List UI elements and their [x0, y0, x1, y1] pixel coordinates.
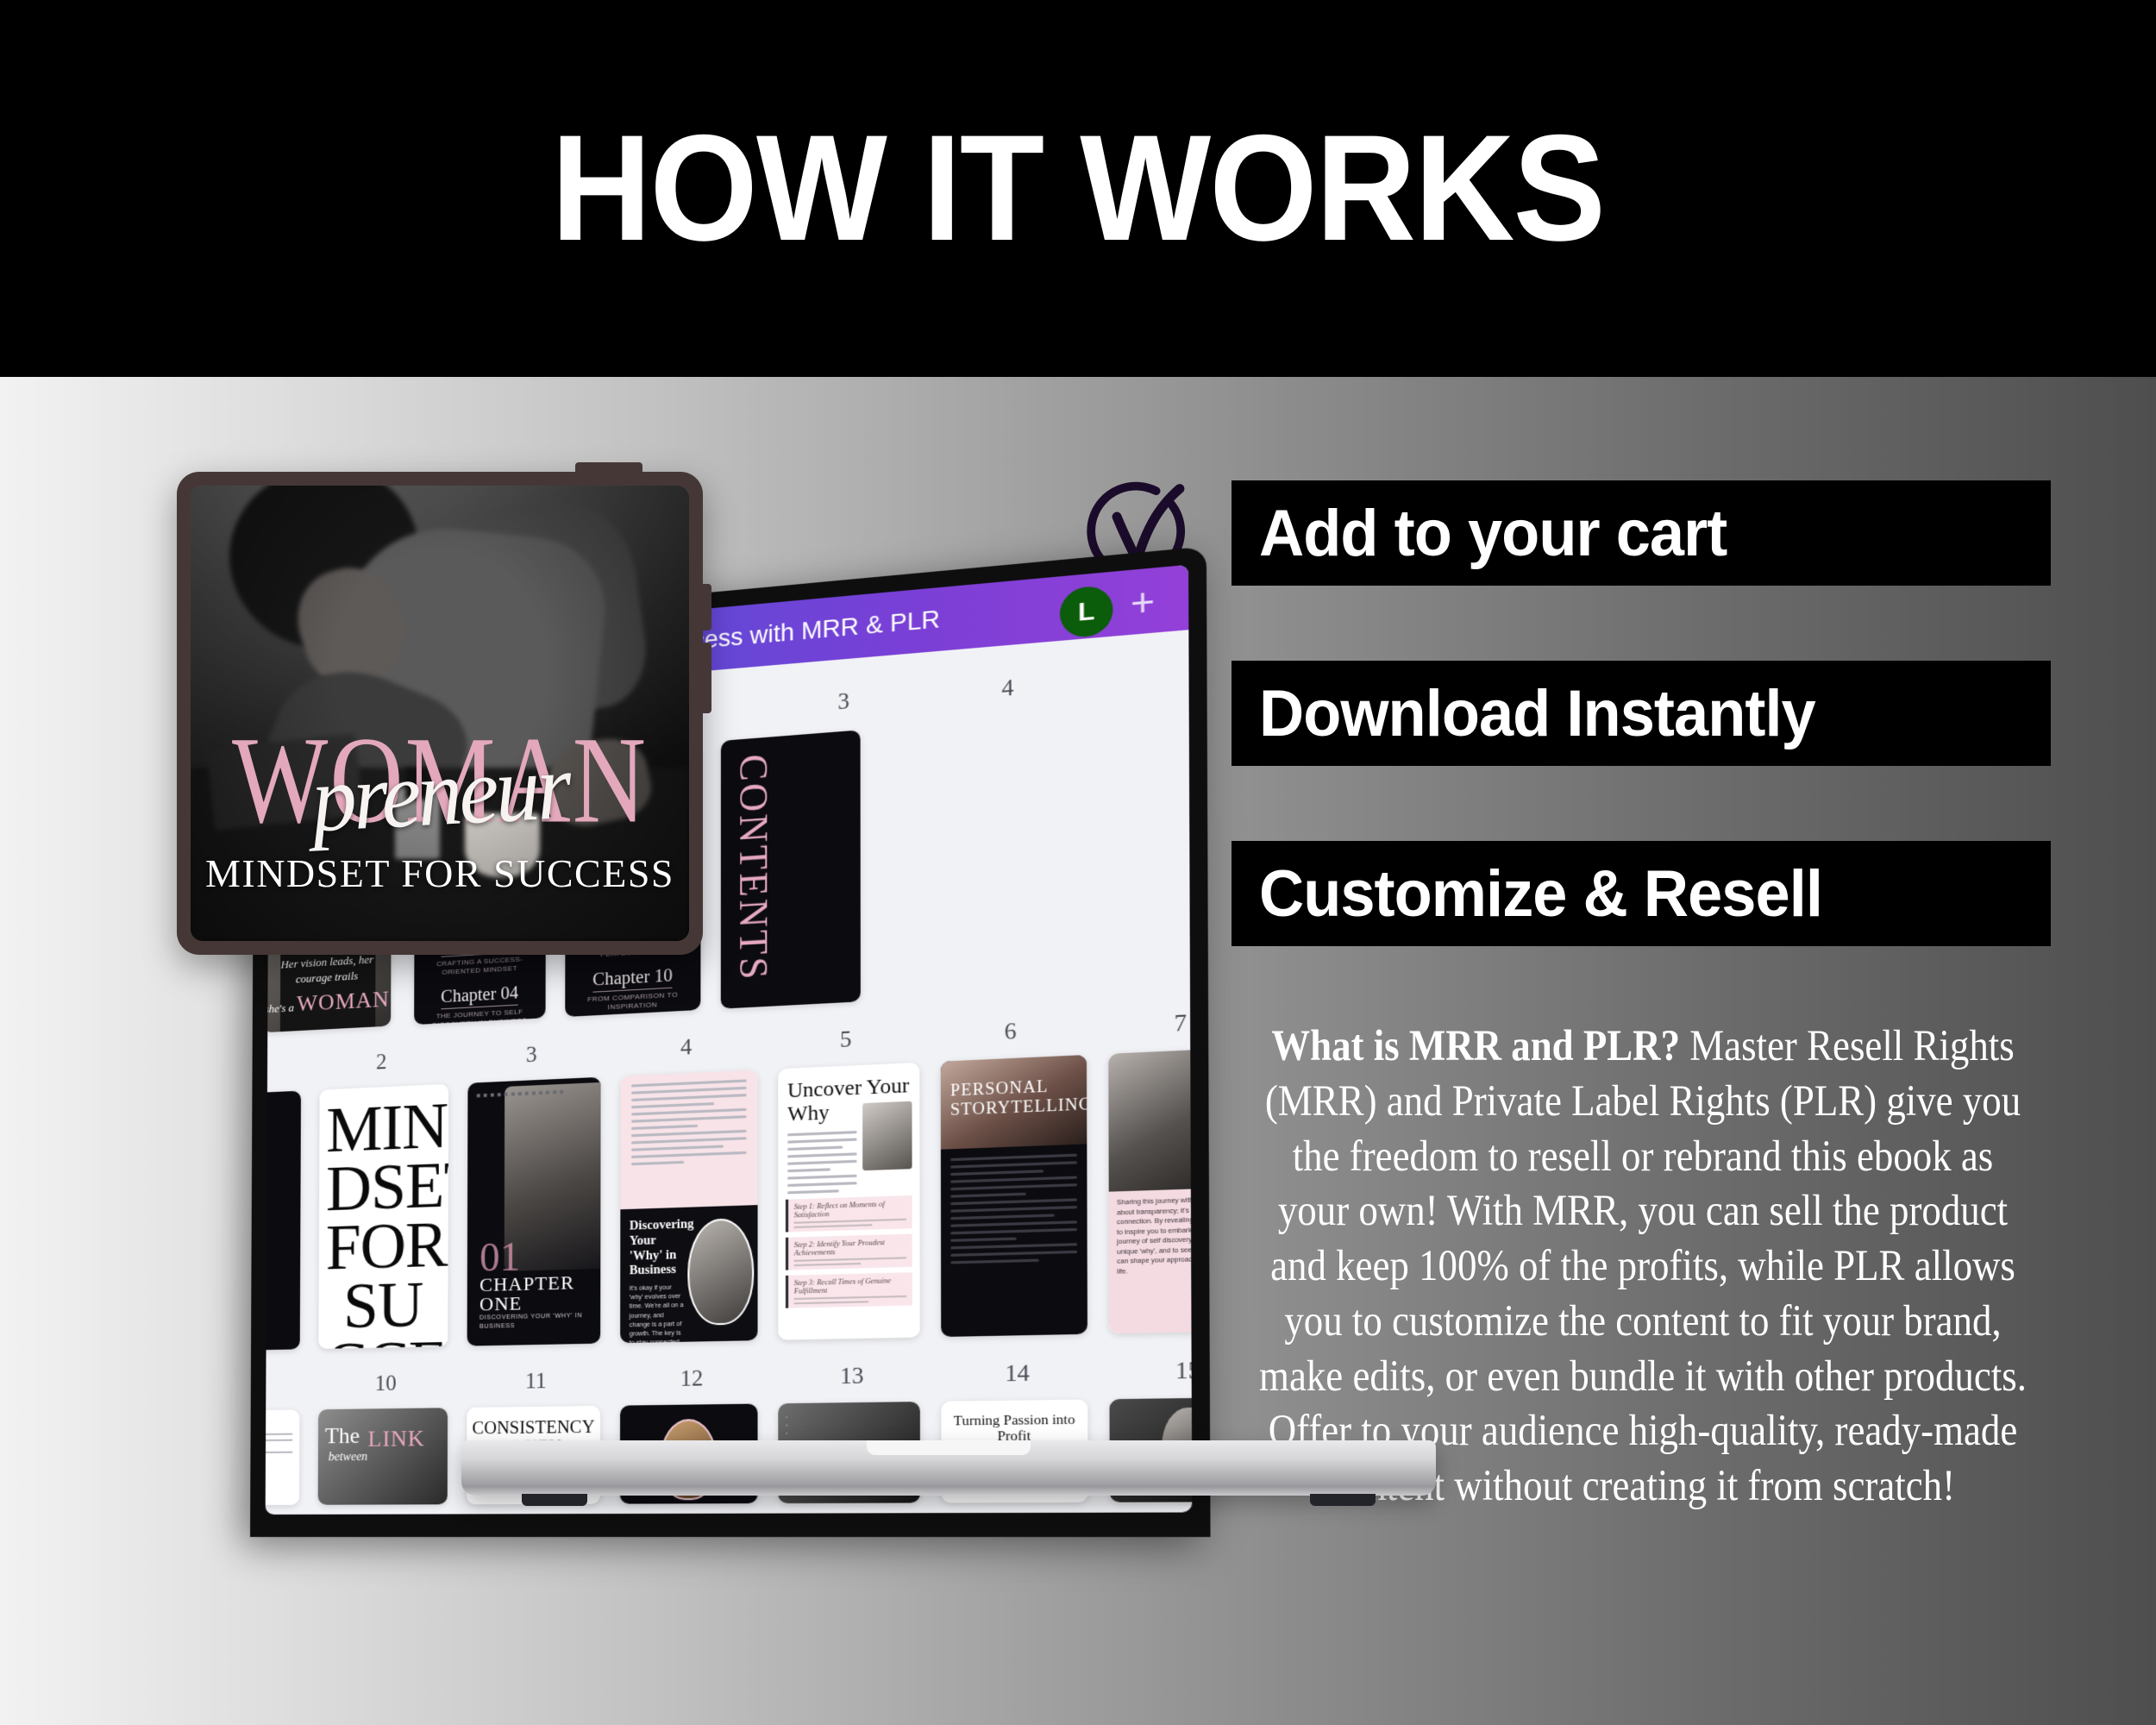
thumbnail-title: Turning Passion into Profit — [941, 1400, 1087, 1446]
steps-list: Add to your cart Download Instantly Cust… — [1087, 480, 2078, 1021]
step-pill[interactable]: Download Instantly — [1232, 661, 2051, 766]
page-number: 12 — [680, 1367, 704, 1393]
tablet-screen: WOMAN preneur MINDSET FOR SUCCESS — [191, 486, 689, 941]
step-row-customize-resell[interactable]: Customize & Resell — [1087, 841, 2078, 946]
list-item[interactable]: Uncover Your Why Step 1: Reflect on Mome… — [778, 1063, 919, 1340]
thumbnail-row-2: MIN DSET FOR SU CCESS ■■■■■■■■■■■■■ 01 C… — [266, 1000, 1193, 1350]
content-area: WOMAN preneur MINDSET FOR SUCCESS Womanp… — [0, 377, 2156, 1725]
page-number: 7 — [1174, 1011, 1187, 1038]
step-label: Add to your cart — [1259, 496, 1727, 571]
page-number: 4 — [680, 1035, 692, 1061]
thumbnail-word-3: between — [329, 1451, 368, 1465]
chapter-number: Chapter 04 — [441, 983, 518, 1009]
list-item[interactable] — [266, 1091, 301, 1352]
page-number: 5 — [840, 1027, 852, 1053]
step-row-add-to-cart[interactable]: Add to your cart — [1087, 480, 2078, 586]
step-label: Download Instantly — [1259, 676, 1815, 751]
thumbnail-title: Why' — [266, 1417, 293, 1431]
article-body: Sharing this journey with you is not jus… — [1117, 1195, 1192, 1277]
thumbnail-title: MIN DSET FOR SU CCESS — [318, 1084, 448, 1349]
list-item[interactable]: ■■■■■■■■■■■■■ 01 CHAPTER ONE DISCOVERING… — [467, 1077, 601, 1346]
list-item[interactable]: CONTENTS — [721, 730, 861, 1008]
tablet-volume-up-button[interactable] — [702, 584, 711, 630]
quote-text: Her vision leads, her courage trails she… — [266, 950, 392, 1022]
step-row-download-instantly[interactable]: Download Instantly — [1087, 661, 2078, 766]
tablet-power-button[interactable] — [575, 462, 642, 474]
chapter-subtitle: FROM COMPARISON TO INSPIRATION — [565, 989, 700, 1014]
list-item[interactable]: Sharing this journey with you is not jus… — [1108, 1047, 1192, 1333]
chapter-number: Chapter 10 — [592, 966, 673, 993]
step-pill[interactable]: Customize & Resell — [1232, 841, 2051, 946]
chapter-subtitle: CRAFTING A SUCCESS-ORIENTED MINDSET — [414, 954, 545, 979]
laptop-foot-left — [522, 1494, 587, 1506]
laptop-notch — [867, 1440, 1031, 1455]
cover-subtitle: MINDSET FOR SUCCESS — [191, 850, 689, 896]
page-number: 3 — [526, 1043, 537, 1068]
chapter-subtitle: THE JOURNEY TO SELF DISCOVERY IN BUSINES… — [414, 1007, 545, 1025]
list-item[interactable]: Why' — [266, 1409, 300, 1505]
step-label: Step 2: Identify Your Proudest Achieveme… — [794, 1238, 906, 1258]
list-item[interactable]: The LINK between — [318, 1408, 448, 1505]
step-label: Step 1: Reflect on Moments of Satisfacti… — [794, 1199, 906, 1219]
step-label: Step 3: Recall Times of Genuine Fulfillm… — [794, 1276, 906, 1295]
thumbnail-title: PERSONAL STORYTELLING — [950, 1075, 1087, 1119]
page-number: 11 — [525, 1370, 547, 1395]
list-item[interactable]: PERSONAL STORYTELLING — [941, 1055, 1087, 1337]
step-pill[interactable]: Add to your cart — [1232, 480, 2051, 586]
header-band: HOW IT WORKS — [0, 0, 2156, 377]
tablet-volume-down-button[interactable] — [702, 643, 711, 713]
page-number: 6 — [1005, 1019, 1017, 1046]
chapter-title: CHAPTER ONE — [479, 1272, 600, 1314]
laptop-base — [461, 1440, 1436, 1496]
page-number: 2 — [376, 1051, 387, 1076]
tablet-mockup: WOMAN preneur MINDSET FOR SUCCESS — [177, 472, 703, 955]
thumbnail-word-2: LINK — [367, 1426, 424, 1452]
mrr-plr-lead: What is MRR and PLR? — [1271, 1022, 1680, 1070]
avatar[interactable]: L — [1060, 585, 1113, 639]
page-number: 15 — [1175, 1358, 1192, 1385]
page-number: 3 — [837, 689, 849, 715]
page-number: 4 — [1001, 676, 1013, 703]
contents-title: CONTENTS — [721, 737, 777, 983]
page-number: 13 — [840, 1364, 863, 1389]
mrr-plr-body: Master Resell Rights (MRR) and Private L… — [1259, 1022, 2027, 1510]
plus-icon[interactable]: + — [1121, 581, 1165, 626]
chapter-subtitle: DISCOVERING YOUR 'WHY' IN BUSINESS — [479, 1312, 592, 1332]
list-item[interactable]: MIN DSET FOR SU CCESS — [318, 1084, 448, 1349]
page-title: HOW IT WORKS — [551, 113, 1604, 264]
laptop-foot-right — [1310, 1494, 1376, 1506]
page-number: 10 — [375, 1371, 397, 1396]
thumbnail-word-1: The — [325, 1423, 360, 1450]
page-number: 14 — [1005, 1361, 1029, 1388]
list-item[interactable]: Discovering Your 'Why' in Business It's … — [620, 1069, 757, 1343]
step-label: Customize & Resell — [1259, 856, 1822, 931]
